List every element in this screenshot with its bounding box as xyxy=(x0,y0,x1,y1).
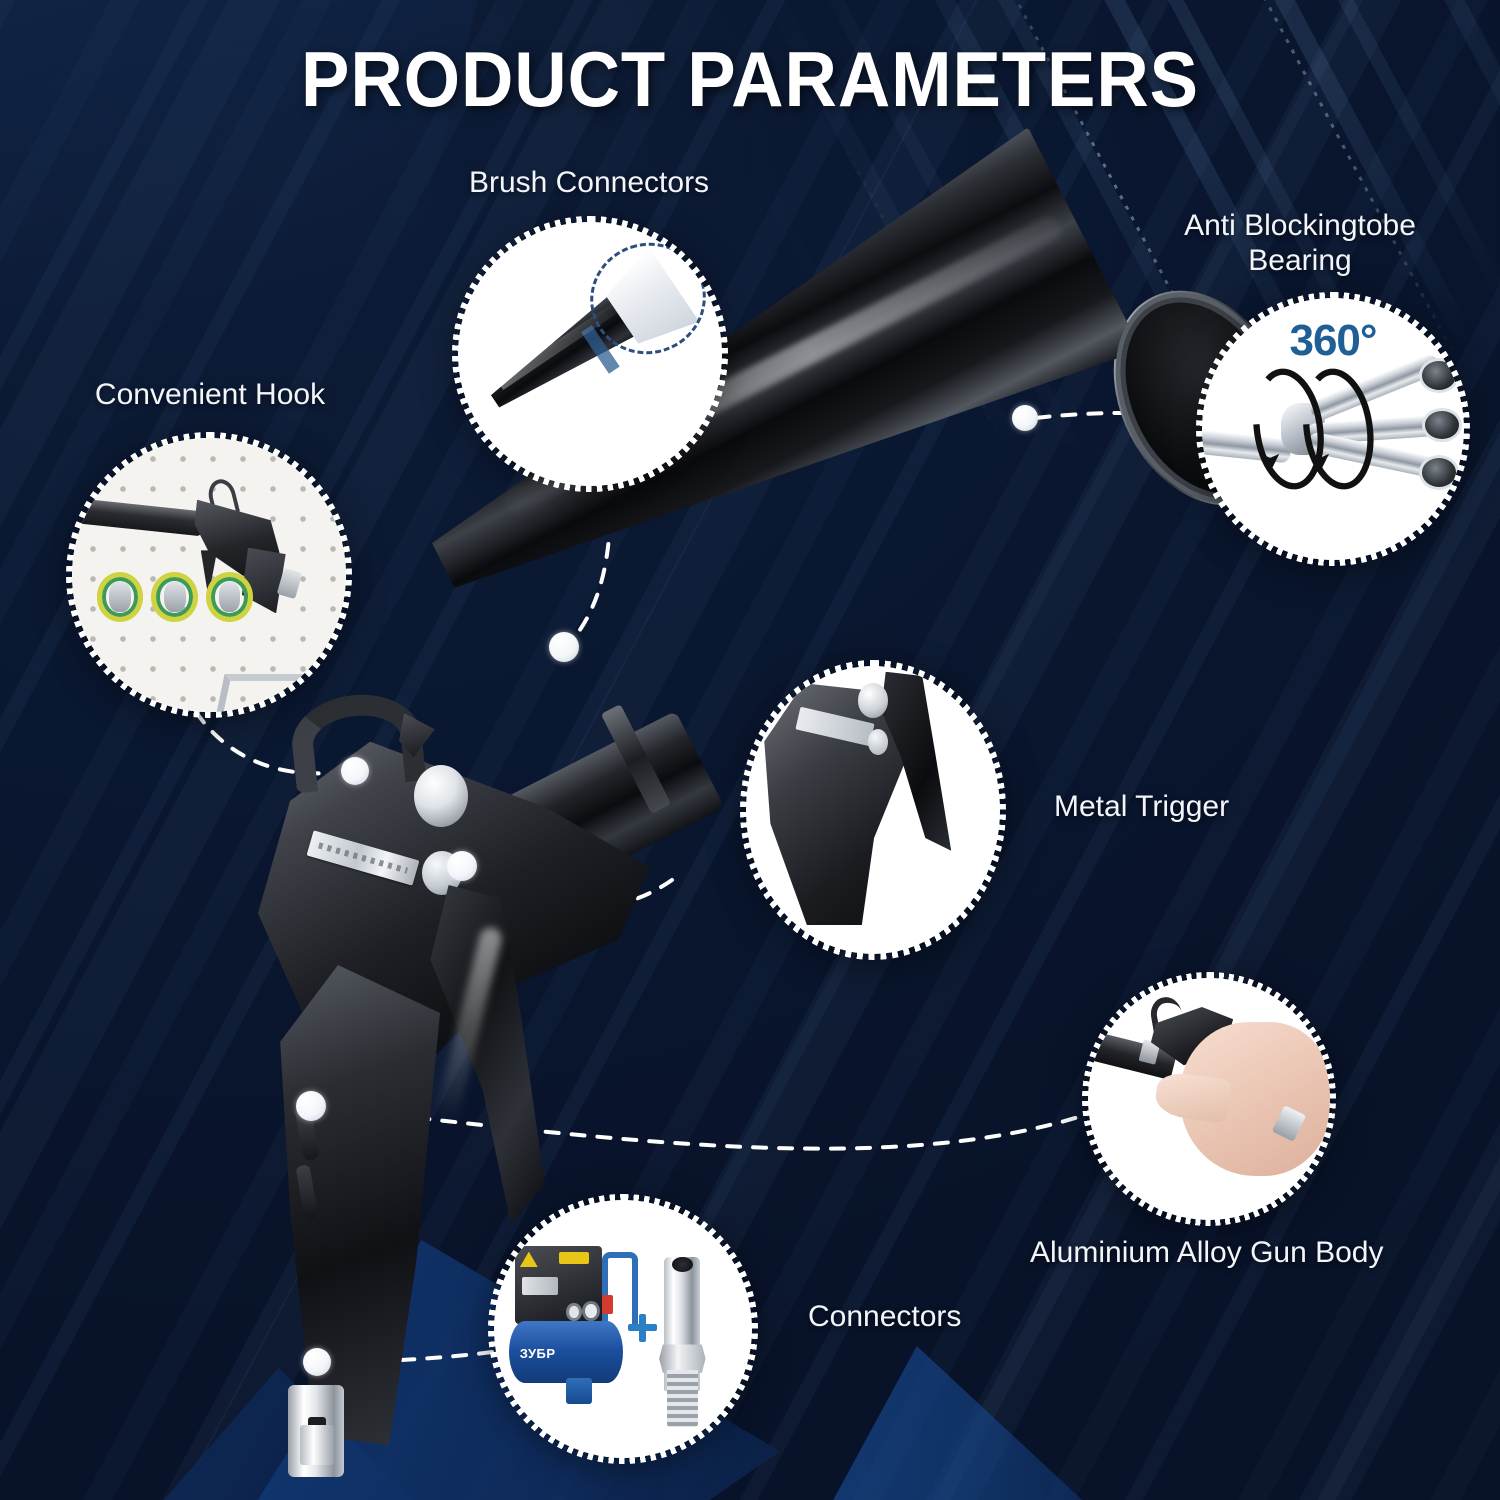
coiled-hose-core-2 xyxy=(164,582,186,612)
anchor-dot-cone xyxy=(1012,405,1038,431)
compressor-yellow-strip xyxy=(559,1252,590,1265)
pegboard-bracket xyxy=(215,674,317,712)
callout-label-anti-blocking-bearing: Anti Blockingtobe Bearing xyxy=(1130,208,1470,279)
callout-circle-metal-trigger xyxy=(740,660,1006,960)
callout-circle-anti-blocking-bearing: 360° xyxy=(1196,292,1470,566)
callout-label-convenient-hook: Convenient Hook xyxy=(58,378,362,413)
trigger-closeup-upper-pin xyxy=(858,683,888,718)
compressor-brand-label: ЗУБР xyxy=(520,1342,582,1365)
quick-connect-hex-nut xyxy=(659,1344,705,1372)
anchor-dot-barrel xyxy=(549,632,579,662)
callout-label-connectors: Connectors xyxy=(808,1300,1108,1335)
coiled-hose-core-1 xyxy=(109,582,131,612)
callout-circle-brush-connectors xyxy=(452,216,728,492)
quick-connect-threads xyxy=(667,1370,698,1427)
compressor-spec-plate xyxy=(522,1277,558,1295)
index-finger xyxy=(1153,1070,1231,1123)
compressor-valve xyxy=(602,1295,612,1313)
callout-circle-connectors: ЗУБР xyxy=(488,1194,758,1464)
bearing-rotation-arrows xyxy=(1202,298,1464,560)
callout-label-metal-trigger: Metal Trigger xyxy=(1054,790,1374,825)
quick-connect-opening xyxy=(672,1257,693,1272)
compressor-foot xyxy=(566,1378,592,1404)
callout-label-aluminium-alloy-gun-body: Aluminium Alloy Gun Body xyxy=(1030,1236,1470,1271)
page-title: PRODUCT PARAMETERS xyxy=(53,40,1448,118)
plus-icon xyxy=(628,1314,656,1342)
callout-circle-convenient-hook xyxy=(66,432,352,718)
anchor-dot-inlet xyxy=(303,1348,331,1376)
anchor-dot-hook xyxy=(341,757,369,785)
compressor-gauge-right xyxy=(582,1301,600,1322)
coiled-hose-core-3 xyxy=(219,582,241,612)
air-inlet-neck xyxy=(300,1425,334,1465)
callout-circle-aluminium-alloy-gun-body xyxy=(1082,972,1336,1226)
anchor-dot-trigger xyxy=(447,851,477,881)
gun-grip xyxy=(270,965,440,1445)
product-parameters-infographic: PRODUCT PARAMETERS xyxy=(0,0,1500,1500)
callout-label-brush-connectors: Brush Connectors xyxy=(406,166,772,201)
gun-upper-pin xyxy=(414,765,468,827)
anchor-dot-grip xyxy=(296,1091,326,1121)
compressor-gauge-left xyxy=(566,1303,581,1321)
